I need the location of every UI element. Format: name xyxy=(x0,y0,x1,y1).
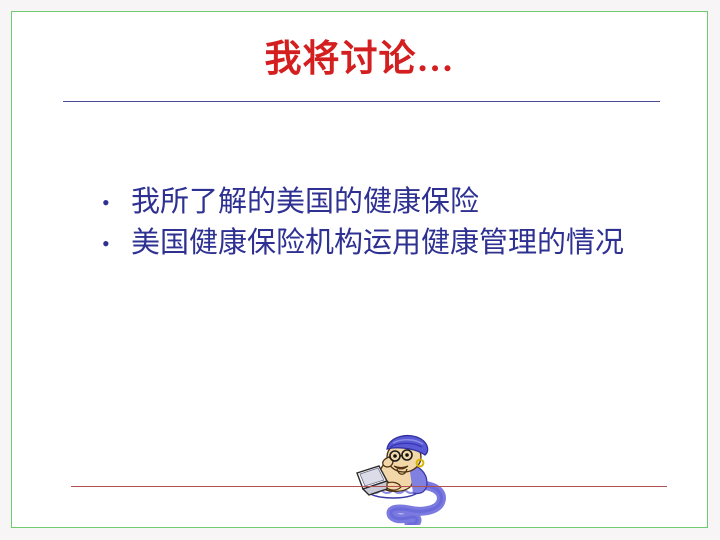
title-divider xyxy=(63,101,660,102)
bullet-marker-icon: • xyxy=(102,223,136,264)
bullet-list: • 我所了解的美国的健康保险 • 美国健康保险机构运用健康管理的情况 xyxy=(97,182,677,264)
list-item-label: 美国健康保险机构运用健康管理的情况 xyxy=(131,223,677,264)
list-item-label: 我所了解的美国的健康保险 xyxy=(131,182,677,223)
bullet-marker-icon: • xyxy=(102,182,136,223)
list-item: • 美国健康保险机构运用健康管理的情况 xyxy=(97,223,677,264)
list-item: • 我所了解的美国的健康保险 xyxy=(97,182,677,223)
page-title: 我将讨论… xyxy=(12,40,707,81)
presentation-slide: 我将讨论… • 我所了解的美国的健康保险 • 美国健康保险机构运用健康管理的情况 xyxy=(11,11,708,528)
footer-divider xyxy=(71,486,667,487)
genie-with-laptop-icon xyxy=(347,433,453,525)
